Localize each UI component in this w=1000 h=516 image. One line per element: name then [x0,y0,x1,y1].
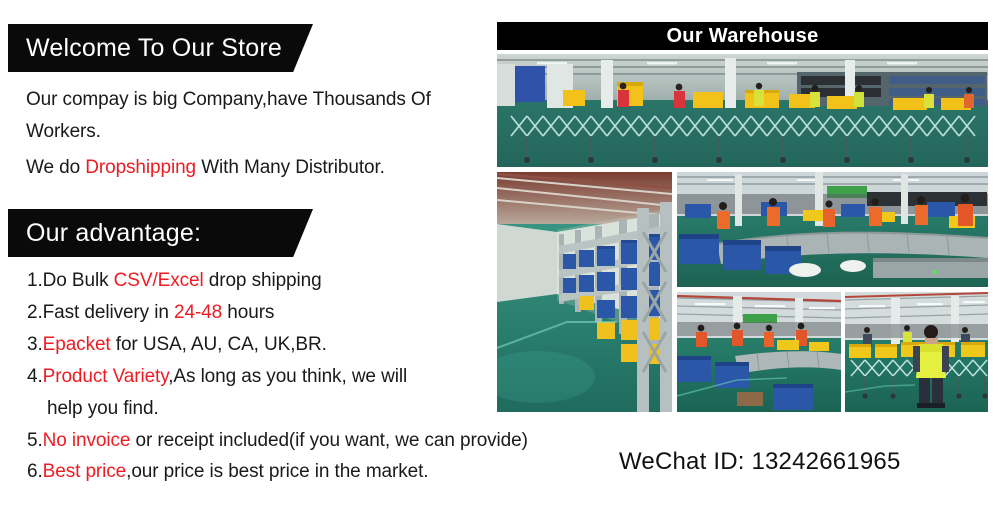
advantage-item-2: 2.Fast delivery in 24-48 hours [27,302,274,324]
photo-warehouse-worker-yellow-vest [845,292,988,412]
intro-line-3-post: With Many Distributor. [196,157,385,178]
advantage-item-4: 4.Product Variety,As long as you think, … [27,366,407,388]
advantage-item-5-highlight: No invoice [43,430,131,451]
advantage-item-1-highlight: CSV/Excel [114,270,204,291]
advantage-item-4-continuation: help you find. [47,398,159,420]
warehouse-header-bar: Our Warehouse [497,22,988,50]
advantage-item-3-highlight: Epacket [43,334,111,355]
advantage-banner-label: Our advantage: [8,219,201,248]
advantage-item-6: 6.Best price,our price is best price in … [27,461,428,483]
promotional-banner: Welcome To Our Store Our compay is big C… [0,0,1000,516]
advantage-item-5-number: 5. [27,430,43,451]
advantage-item-2-pre: Fast delivery in [43,302,174,323]
advantage-banner: Our advantage: [8,209,313,257]
intro-line-3-pre: We do [26,157,85,178]
intro-line-3-highlight: Dropshipping [85,157,196,178]
photo-warehouse-sorting-line [677,172,988,287]
advantage-item-5: 5.No invoice or receipt included(if you … [27,430,528,452]
photo-warehouse-panorama-conveyor [497,54,988,167]
warehouse-photo-collage: Our Warehouse [497,0,988,516]
intro-line-2: Workers. [26,121,101,143]
wechat-id-text: WeChat ID: 13242661965 [619,448,901,476]
intro-line-3: We do Dropshipping With Many Distributor… [26,157,385,179]
welcome-banner-label: Welcome To Our Store [8,34,282,63]
advantage-item-3-post: for USA, AU, CA, UK,BR. [111,334,327,355]
advantage-item-1-pre: Do Bulk [43,270,114,291]
photo-warehouse-shelving-aisle [497,172,672,412]
advantage-item-2-number: 2. [27,302,43,323]
advantage-item-6-highlight: Best price [43,461,126,482]
welcome-banner: Welcome To Our Store [8,24,313,72]
advantage-item-1-post: drop shipping [204,270,322,291]
warehouse-header-label: Our Warehouse [666,25,818,48]
advantage-item-1-number: 1. [27,270,43,291]
advantage-item-2-post: hours [222,302,274,323]
advantage-item-1: 1.Do Bulk CSV/Excel drop shipping [27,270,322,292]
advantage-item-3: 3.Epacket for USA, AU, CA, UK,BR. [27,334,327,356]
intro-line-1: Our compay is big Company,have Thousands… [26,89,431,111]
advantage-item-6-post: ,our price is best price in the market. [126,461,428,482]
advantage-item-4-number: 4. [27,366,43,387]
left-text-column: Welcome To Our Store Our compay is big C… [0,0,500,516]
advantage-item-4-post: ,As long as you think, we will [168,366,407,387]
advantage-item-2-highlight: 24-48 [174,302,222,323]
photo-warehouse-packing-line [677,292,841,412]
advantage-item-6-number: 6. [27,461,43,482]
advantage-item-3-number: 3. [27,334,43,355]
advantage-item-4-highlight: Product Variety [43,366,169,387]
advantage-item-5-post: or receipt included(if you want, we can … [130,430,527,451]
